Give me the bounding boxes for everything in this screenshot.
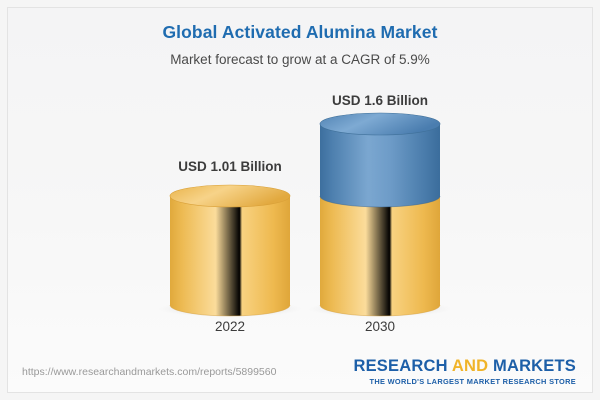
bar-2030[interactable]	[320, 113, 440, 316]
bar-value-label-2022: USD 1.01 Billion	[150, 159, 310, 174]
report-url[interactable]: https://www.researchandmarkets.com/repor…	[22, 366, 276, 378]
bar-2022[interactable]	[170, 185, 290, 316]
bar-value-label-2030: USD 1.6 Billion	[300, 93, 460, 108]
bar-2030-top	[320, 113, 440, 135]
bar-2030-body-gold	[320, 196, 440, 316]
x-axis-label-2030: 2030	[300, 319, 460, 334]
bar-2022-body	[170, 196, 290, 316]
x-axis-label-2022: 2022	[150, 319, 310, 334]
logo-word-markets: MARKETS	[488, 357, 576, 375]
logo-word-and: AND	[452, 357, 488, 375]
bar-chart: USD 1.01 Billion USD 1.6 Billion 2022 20…	[0, 0, 600, 400]
logo-wordmark: RESEARCH AND MARKETS	[353, 358, 576, 375]
logo-word-research: RESEARCH	[353, 357, 451, 375]
chart-card: Global Activated Alumina Market Market f…	[0, 0, 600, 400]
bar-2022-top	[170, 185, 290, 207]
research-and-markets-logo[interactable]: RESEARCH AND MARKETS THE WORLD'S LARGEST…	[353, 358, 576, 385]
chart-svg	[0, 0, 600, 400]
logo-tagline: THE WORLD'S LARGEST MARKET RESEARCH STOR…	[353, 378, 576, 385]
bar-2030-body-blue	[320, 124, 440, 207]
